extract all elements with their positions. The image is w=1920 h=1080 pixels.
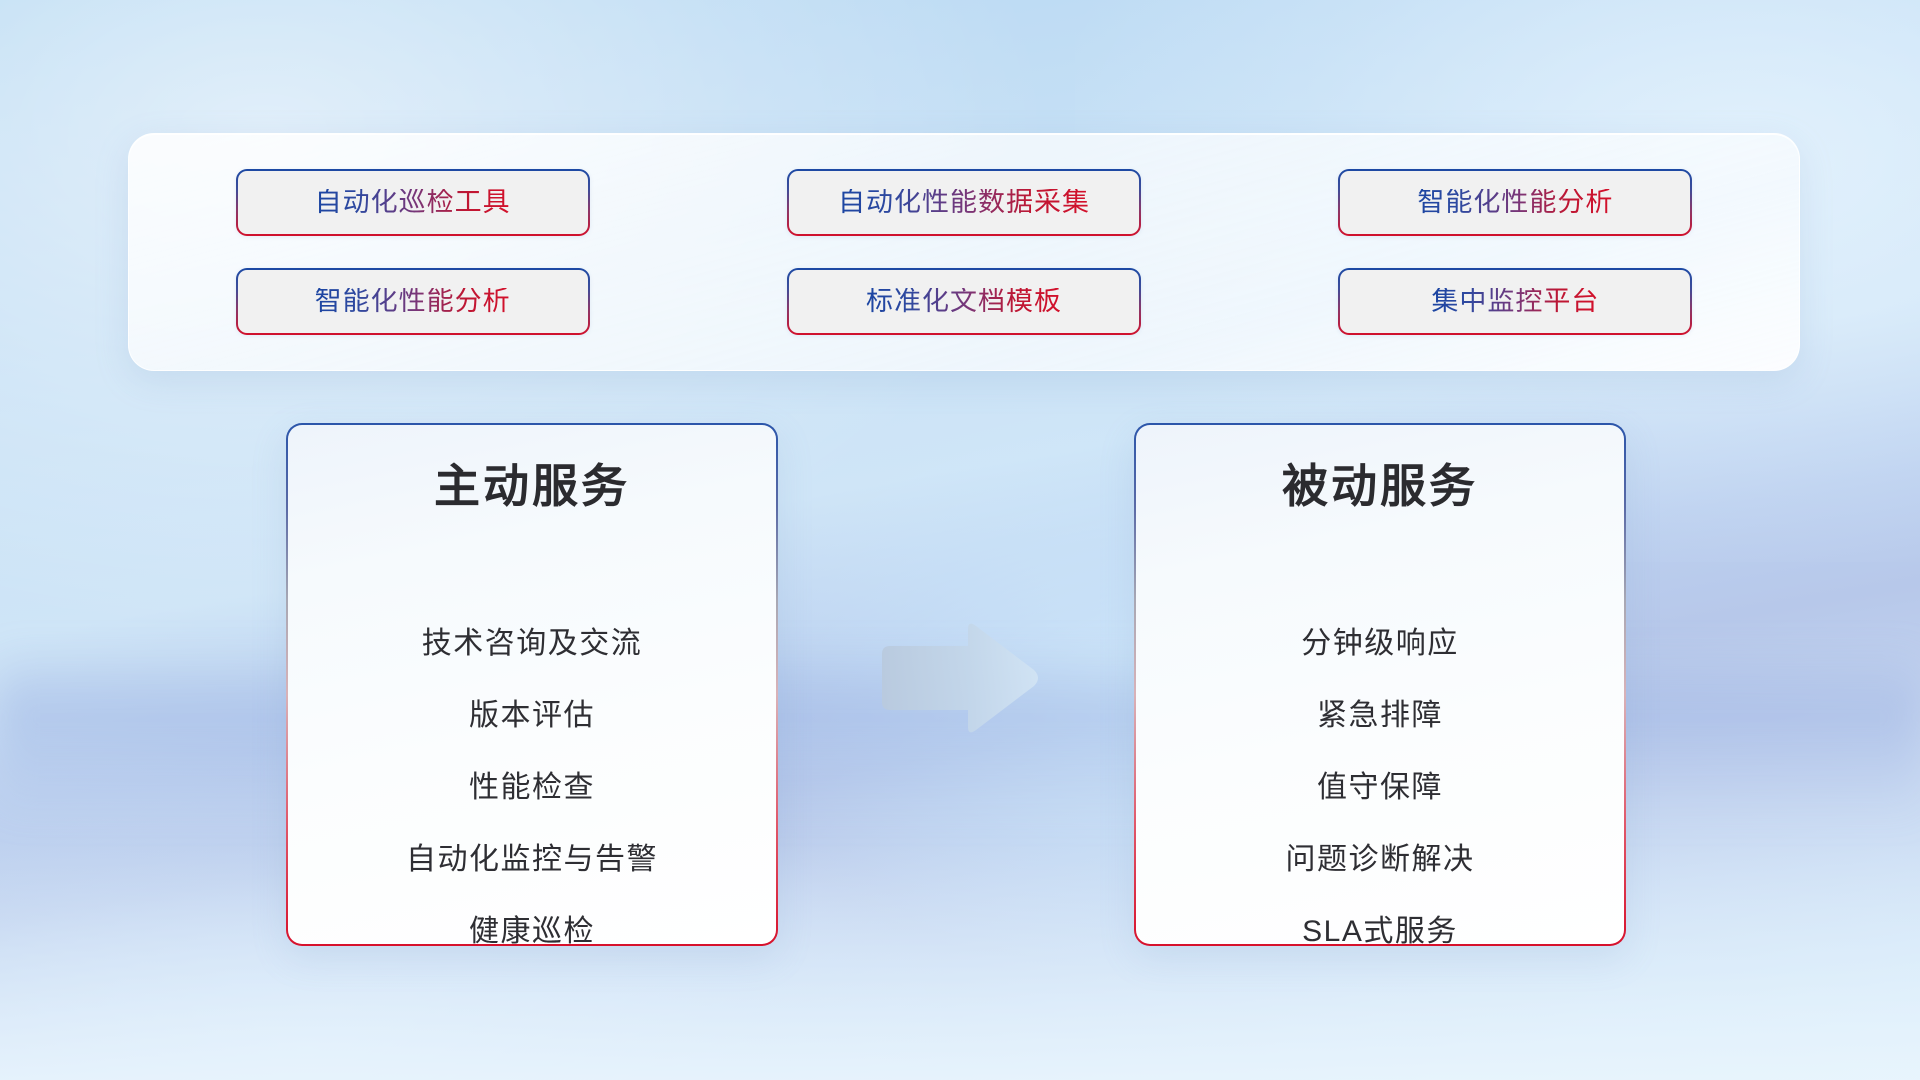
- capability-pill-label: 智能化性能分析: [315, 288, 511, 315]
- list-item: 健康巡检: [469, 896, 595, 968]
- capability-pill-label: 自动化性能数据采集: [838, 189, 1090, 216]
- capability-pill-standardized-document-template[interactable]: 标准化文档模板: [787, 268, 1141, 335]
- service-card-list: 分钟级响应 紧急排障 值守保障 问题诊断解决 SLA式服务: [1136, 608, 1624, 968]
- capability-pill-label: 自动化巡检工具: [315, 189, 511, 216]
- capability-pill-intelligent-performance-analysis-bottom[interactable]: 智能化性能分析: [236, 268, 590, 335]
- service-card-reactive[interactable]: 被动服务 分钟级响应 紧急排障 值守保障 问题诊断解决 SLA式服务: [1134, 423, 1626, 946]
- list-item: SLA式服务: [1302, 896, 1458, 968]
- list-item: 版本评估: [469, 680, 595, 752]
- list-item: 问题诊断解决: [1286, 824, 1475, 896]
- flow-arrow-right-icon: [872, 618, 1044, 738]
- list-item: 分钟级响应: [1301, 608, 1459, 680]
- capability-panel: 自动化巡检工具 自动化性能数据采集 智能化性能分析 智能化性能分析 标准化文档模…: [128, 133, 1800, 371]
- capability-pill-centralized-monitoring-platform[interactable]: 集中监控平台: [1338, 268, 1692, 335]
- capability-pill-automated-inspection-tool[interactable]: 自动化巡检工具: [236, 169, 590, 236]
- service-card-list: 技术咨询及交流 版本评估 性能检查 自动化监控与告警 健康巡检: [288, 608, 776, 968]
- service-card-title: 主动服务: [434, 463, 630, 509]
- capability-pill-automated-performance-data-collection[interactable]: 自动化性能数据采集: [787, 169, 1141, 236]
- list-item: 值守保障: [1317, 752, 1443, 824]
- service-card-title: 被动服务: [1282, 463, 1478, 509]
- capability-pill-label: 集中监控平台: [1431, 288, 1599, 315]
- list-item: 技术咨询及交流: [422, 608, 643, 680]
- capability-pill-intelligent-performance-analysis-top[interactable]: 智能化性能分析: [1338, 169, 1692, 236]
- capability-pill-label: 智能化性能分析: [1417, 189, 1613, 216]
- service-card-proactive[interactable]: 主动服务 技术咨询及交流 版本评估 性能检查 自动化监控与告警 健康巡检: [286, 423, 778, 946]
- capability-pill-grid: 自动化巡检工具 自动化性能数据采集 智能化性能分析 智能化性能分析 标准化文档模…: [129, 134, 1799, 370]
- list-item: 紧急排障: [1317, 680, 1443, 752]
- capability-pill-label: 标准化文档模板: [866, 288, 1062, 315]
- list-item: 自动化监控与告警: [406, 824, 658, 896]
- list-item: 性能检查: [469, 752, 595, 824]
